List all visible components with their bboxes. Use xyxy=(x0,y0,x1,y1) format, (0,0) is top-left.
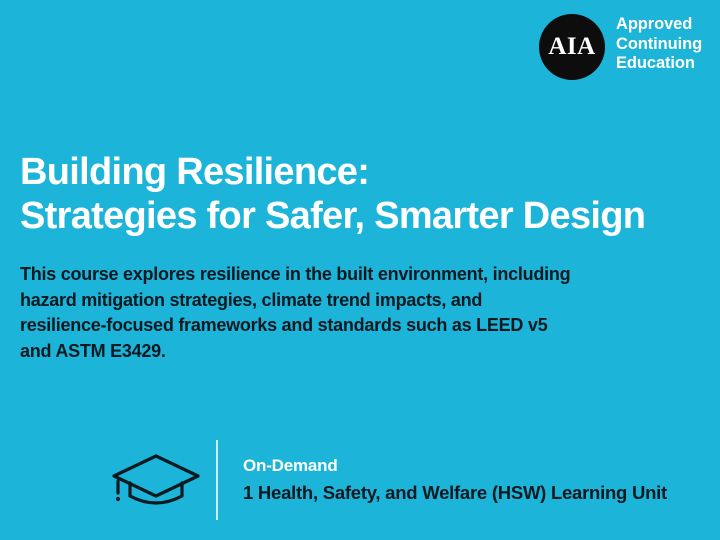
aia-caption-line-2: Continuing xyxy=(616,35,702,55)
aia-approved-ce-badge: AIA Approved Continuing Education xyxy=(539,14,720,84)
course-meta-footer: On-Demand 1 Health, Safety, and Welfare … xyxy=(108,437,720,523)
aia-badge-caption: Approved Continuing Education xyxy=(616,14,702,74)
course-promo-card: AIA Approved Continuing Education Buildi… xyxy=(0,0,720,540)
footer-divider xyxy=(216,440,218,520)
course-description-line-1: This course explores resilience in the b… xyxy=(20,262,660,288)
course-description: This course explores resilience in the b… xyxy=(20,262,660,364)
course-title-line-1: Building Resilience: xyxy=(20,150,680,194)
course-description-line-4: and ASTM E3429. xyxy=(20,339,660,365)
graduation-cap-icon xyxy=(108,448,204,512)
course-description-line-3: resilience-focused frameworks and standa… xyxy=(20,313,660,339)
course-title: Building Resilience: Strategies for Safe… xyxy=(20,150,680,238)
course-credit-label: 1 Health, Safety, and Welfare (HSW) Lear… xyxy=(243,480,667,506)
footer-text-group: On-Demand 1 Health, Safety, and Welfare … xyxy=(243,454,667,506)
course-title-line-2: Strategies for Safer, Smarter Design xyxy=(20,194,680,238)
course-format-label: On-Demand xyxy=(243,454,667,478)
course-description-line-2: hazard mitigation strategies, climate tr… xyxy=(20,288,660,314)
aia-mark-text: AIA xyxy=(548,34,595,59)
aia-seal-icon: AIA xyxy=(539,14,605,80)
aia-caption-line-1: Approved xyxy=(616,15,702,35)
aia-caption-line-3: Education xyxy=(616,54,702,74)
